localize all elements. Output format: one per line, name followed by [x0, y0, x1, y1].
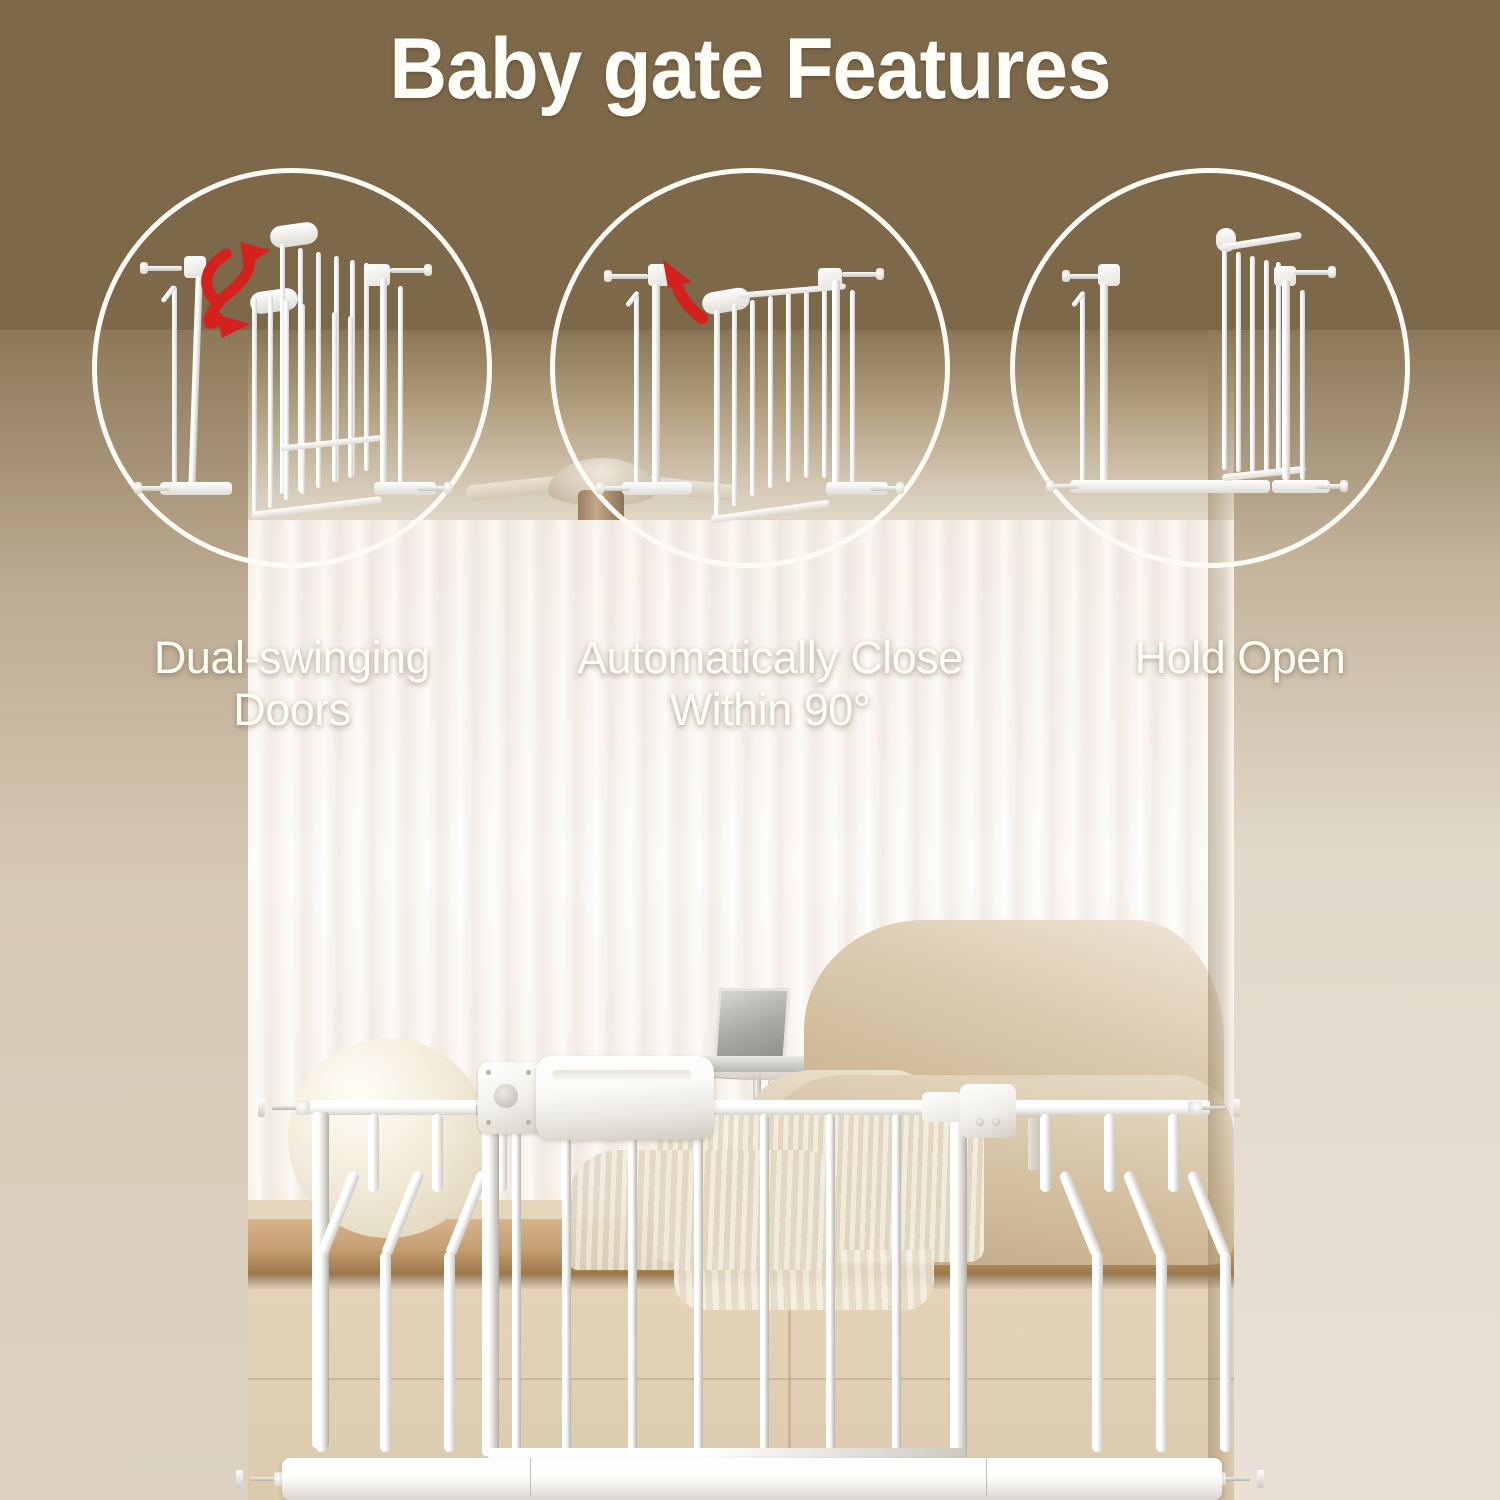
- mini-door-bar: [1250, 256, 1255, 472]
- mini-bolt-knob: [1340, 480, 1348, 492]
- bar-segment-diagonal: [1058, 1170, 1102, 1258]
- bolt-pad: [258, 1099, 265, 1117]
- feature-card-dual-swinging-doors: [92, 168, 492, 568]
- door-latch-post-right: [950, 1096, 967, 1458]
- caption-line-1: Automatically Close: [498, 632, 1042, 684]
- main-baby-gate: [250, 1100, 1250, 1500]
- bolt-pad: [1257, 1470, 1264, 1488]
- rail-seam: [476, 1105, 477, 1115]
- gate-bar: [694, 1114, 703, 1452]
- gate-top-rail: [310, 1100, 1210, 1115]
- bar-segment-bottom: [1092, 1252, 1103, 1452]
- bar-segment-diagonal: [381, 1170, 425, 1258]
- bar-segment-top: [432, 1114, 443, 1192]
- mini-extension-bar: [1080, 294, 1085, 488]
- caption-dual-swinging-doors: Dual-swinging Doors: [62, 632, 522, 736]
- bar-segment-top: [1168, 1114, 1179, 1192]
- bottom-rail-seam: [530, 1458, 531, 1496]
- bar-segment-top: [368, 1114, 379, 1192]
- mini-extension-bar: [1300, 290, 1305, 480]
- bar-segment-top: [1104, 1114, 1115, 1192]
- mini-bolt-knob: [1046, 480, 1054, 492]
- bottom-rail-seam: [986, 1458, 987, 1496]
- hinge-bracket-inner: [922, 1092, 962, 1122]
- bar-segment-bottom: [380, 1252, 391, 1452]
- dual-swing-arrow-icon: [92, 168, 492, 568]
- gate-bar: [562, 1114, 571, 1452]
- door-hinge-post-left: [482, 1078, 499, 1456]
- latch-mechanism-plate[interactable]: [478, 1062, 544, 1134]
- screw-dot: [526, 1070, 531, 1075]
- hinge-dot: [992, 1118, 1000, 1126]
- gate-bar: [892, 1114, 901, 1452]
- bolt-pad: [236, 1470, 243, 1488]
- illustration-hold-open: [1010, 168, 1410, 568]
- hinge-bracket: [960, 1084, 1016, 1138]
- pressure-mount-bolt-top-right[interactable]: [1188, 1101, 1240, 1115]
- screw-dot: [526, 1120, 531, 1125]
- illustration-dual-swinging-doors: [92, 168, 492, 568]
- gate-bottom-rail: [282, 1458, 1222, 1500]
- screw-dot: [486, 1070, 491, 1075]
- mini-bolt-knob: [1062, 270, 1070, 282]
- page-title: Baby gate Features: [53, 20, 1448, 119]
- bar-segment-bottom: [316, 1252, 327, 1452]
- caption-line-2: Doors: [62, 684, 522, 736]
- mini-hinge-bracket: [1098, 264, 1120, 286]
- feature-card-hold-open: [1010, 168, 1410, 568]
- bar-segment-bottom: [1220, 1252, 1231, 1452]
- bolt-pad: [1233, 1099, 1240, 1117]
- infographic-canvas: Baby gate Features Dual-swinging Doors A…: [0, 0, 1500, 1500]
- mini-post-right: [1282, 280, 1290, 480]
- mini-door-bar: [1264, 260, 1269, 472]
- gate-bar: [760, 1114, 769, 1452]
- caption-line-1: Dual-swinging: [62, 632, 522, 684]
- gate-bar: [826, 1114, 835, 1452]
- hinge-dot: [976, 1118, 984, 1126]
- bar-segment-bottom: [444, 1252, 455, 1452]
- mini-post: [1100, 284, 1108, 488]
- gate-bar: [512, 1114, 521, 1452]
- caption-line-1: Hold Open: [1040, 632, 1440, 684]
- bolt-knob: [1188, 1101, 1202, 1115]
- bar-segment-top: [1040, 1114, 1051, 1192]
- caption-automatically-close: Automatically Close Within 90°: [498, 632, 1042, 736]
- pressure-mount-bolt-bottom-left[interactable]: [236, 1472, 288, 1486]
- gate-handle[interactable]: [536, 1056, 714, 1140]
- pressure-mount-bolt-top-left[interactable]: [258, 1101, 310, 1115]
- caption-hold-open: Hold Open: [1040, 632, 1440, 684]
- illustration-automatically-close: [550, 168, 950, 568]
- mini-bolt-knob: [1328, 266, 1336, 278]
- mini-door-bar: [1222, 248, 1227, 470]
- mini-door-bar: [1236, 252, 1241, 472]
- auto-close-arrow-icon: [550, 168, 950, 568]
- bolt-knob: [296, 1101, 310, 1115]
- handle-ridge: [552, 1070, 692, 1080]
- latch-button[interactable]: [494, 1084, 518, 1108]
- bar-segment-diagonal: [1122, 1170, 1166, 1258]
- gate-bar: [628, 1114, 637, 1452]
- caption-line-2: Within 90°: [498, 684, 1042, 736]
- mini-bottom-rail: [1070, 480, 1270, 493]
- bar-segment-bottom: [1156, 1252, 1167, 1452]
- screw-dot: [486, 1120, 491, 1125]
- feature-card-automatically-close: [550, 168, 950, 568]
- laptop-screen: [713, 988, 790, 1060]
- mini-door-bar: [1276, 262, 1281, 470]
- bar-segment-diagonal: [1186, 1170, 1230, 1258]
